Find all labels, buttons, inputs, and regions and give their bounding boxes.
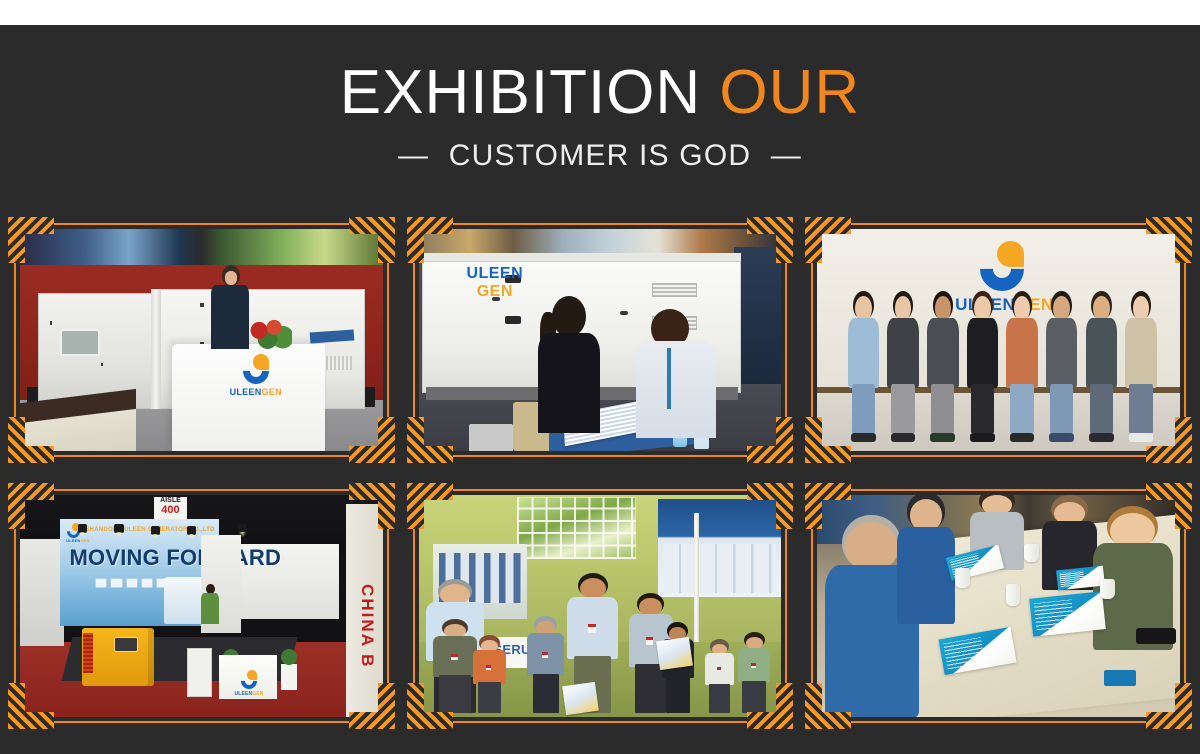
wordmark-gen: GEN: [261, 387, 281, 397]
shoes: [1010, 433, 1035, 442]
legs: [666, 677, 689, 713]
head: [855, 296, 871, 321]
legs: [1050, 384, 1073, 434]
torso: [1086, 318, 1118, 388]
photo-customer-meeting-table[interactable]: [817, 495, 1180, 717]
flower-bouquet: [245, 318, 292, 349]
subtitle-dash-right: —: [761, 139, 812, 173]
legs: [1129, 384, 1152, 434]
gallery-item-5[interactable]: SERUI: [407, 483, 794, 729]
lanyard: [667, 348, 672, 410]
head: [974, 296, 990, 321]
subtitle-dash-left: —: [388, 139, 439, 173]
brand-logo: [110, 578, 122, 588]
wordmark-gen: GEN: [455, 283, 535, 301]
shoes: [1089, 433, 1114, 442]
photo-moving-forward-trade-booth[interactable]: CHINA B AISLE 400 ULEENGEN SHANDONG UL: [20, 495, 383, 717]
leaflet-1: [562, 682, 598, 715]
page-subtitle: — CUSTOMER IS GOD —: [0, 139, 1200, 173]
photo-grid: ULEENGEN: [8, 217, 1192, 729]
subtitle-text: CUSTOMER IS GOD: [449, 139, 751, 172]
group-member: [926, 296, 960, 443]
legs: [439, 675, 470, 712]
coffee-cup-2: [1006, 584, 1021, 606]
generator-seam: [151, 289, 160, 409]
head: [552, 296, 587, 337]
planter-2: [281, 664, 297, 691]
uleen-wordmark-unit: ULEEN GEN: [455, 265, 535, 302]
dark-suit: [538, 333, 600, 433]
uleen-gen-logo: ULEENGEN: [209, 358, 303, 397]
gallery-item-4[interactable]: CHINA B AISLE 400 ULEENGEN SHANDONG UL: [8, 483, 395, 729]
coffee-cup-1: [955, 568, 970, 588]
neighbour-stand-left: [20, 539, 64, 646]
photo-customers-reviewing-documents[interactable]: ULEEN GEN: [419, 229, 782, 451]
brochure-stand: [187, 648, 212, 697]
generator-window: [60, 329, 100, 356]
group-of-visitors: [846, 296, 1158, 443]
torso: [848, 318, 880, 388]
sales-engineer: [538, 296, 600, 434]
visitor-badge: [717, 667, 722, 672]
shoes: [930, 433, 955, 442]
white-shirt: [636, 341, 716, 438]
wordmark-uleen: ULEEN: [230, 387, 262, 397]
gallery-item-6[interactable]: [805, 483, 1192, 729]
title-accent: OUR: [719, 58, 860, 127]
hostess-suit: [211, 285, 249, 349]
torso: [927, 318, 959, 388]
visitor-badge: [588, 624, 596, 633]
legs: [533, 674, 559, 713]
yellow-generator-set: [82, 628, 155, 686]
leaflet-2: [656, 637, 692, 670]
shoes: [1049, 433, 1074, 442]
gallery-item-2[interactable]: ULEEN GEN: [407, 217, 794, 463]
banner-slogan: MOVING FORWARD: [69, 545, 209, 571]
head: [1133, 296, 1149, 321]
group-member: [1005, 296, 1039, 443]
group-member: [965, 296, 999, 443]
uleen-wordmark: ULEENGEN: [209, 387, 303, 397]
shoes: [891, 433, 916, 442]
coffee-cup-4: [1100, 579, 1115, 599]
torso: [967, 318, 999, 388]
legs: [971, 384, 994, 434]
group-member: [1124, 296, 1158, 443]
gallery-item-3[interactable]: ULEENGEN: [805, 217, 1192, 463]
metal-stool: [469, 424, 513, 451]
legs: [1090, 384, 1113, 434]
photo-group-photo-visiting-customers[interactable]: ULEENGEN: [817, 229, 1180, 451]
hall-visitor: [738, 637, 771, 713]
brand-logo: [141, 578, 153, 588]
legs: [891, 384, 914, 434]
wordmark-uleen: ULEEN: [455, 265, 535, 283]
visitor-badge: [646, 637, 653, 645]
brand-logo: [95, 578, 107, 588]
page-title: EXHIBITION OUR: [0, 25, 1200, 125]
coffee-cup-3: [1024, 544, 1039, 562]
group-member: [1045, 296, 1079, 443]
wordmark-uleen: ULEEN: [235, 691, 253, 697]
head: [895, 296, 911, 321]
brochure-2: [1030, 591, 1106, 636]
generator-roof-panel: [422, 253, 741, 262]
tablet-device: [1136, 628, 1176, 644]
head: [1053, 296, 1069, 321]
photo-booth-generators-red-wall[interactable]: ULEENGEN: [20, 229, 383, 451]
partner-brand-logos: [95, 575, 168, 592]
visitor-badge: [751, 663, 756, 668]
hostess-face: [225, 271, 237, 284]
head: [1014, 296, 1030, 321]
uleen-wordmark-counter: ULEENGEN: [230, 691, 268, 697]
shoes: [970, 433, 995, 442]
group-member: [1084, 296, 1118, 443]
group-member: [846, 296, 880, 443]
aisle-number: 400: [154, 505, 187, 516]
aisle-sign: AISLE 400: [154, 497, 187, 519]
torso: [887, 318, 919, 388]
business-card: [1104, 670, 1137, 686]
uleen-gen-logo-on-unit: ULEEN GEN: [455, 265, 535, 302]
hall-visitor: [705, 644, 734, 713]
uleen-logo-mark: [980, 247, 1024, 291]
photo-crowded-exhibition-hall[interactable]: SERUI: [419, 495, 782, 717]
visiting-customer: [636, 309, 716, 438]
section-header: EXHIBITION OUR — CUSTOMER IS GOD —: [0, 25, 1200, 215]
shoes: [851, 433, 876, 442]
gallery-item-1[interactable]: ULEENGEN: [8, 217, 395, 463]
hall-label-china-b: CHINA B: [357, 584, 377, 668]
banner-company-name: SHANDONG ULEEN GENERATOR CO.,LTD: [85, 527, 200, 533]
reception-counter: ULEENGEN: [219, 655, 277, 699]
brand-logo: [126, 578, 138, 588]
counter-uleen-logo: ULEENGEN: [230, 673, 268, 697]
control-window: [114, 637, 139, 652]
hall-visitor: [473, 640, 506, 712]
head: [1093, 296, 1109, 321]
uleen-logo-mark: [243, 358, 269, 384]
overhead-banners: [20, 229, 383, 267]
green-polo: [201, 593, 219, 624]
legs: [1010, 384, 1033, 434]
visitor-badge: [486, 665, 491, 670]
visitor-badge: [542, 652, 548, 658]
radiator-grille: [83, 633, 93, 673]
torso: [1046, 318, 1078, 388]
torso: [1006, 318, 1038, 388]
uleen-logo-mark: [241, 673, 257, 689]
wordmark-gen: GEN: [80, 538, 89, 543]
top-white-strip: [0, 0, 1200, 25]
exhibition-page: EXHIBITION OUR — CUSTOMER IS GOD —: [0, 0, 1200, 754]
torso: [1125, 318, 1157, 388]
legs: [931, 384, 954, 434]
booth-staff: [201, 584, 219, 624]
hall-visitor: [433, 624, 477, 713]
group-member: [886, 296, 920, 443]
wordmark-gen: GEN: [252, 691, 263, 697]
legs: [709, 684, 730, 713]
legs: [852, 384, 875, 434]
visitor-badge: [451, 654, 458, 660]
legs: [742, 681, 765, 713]
legs: [478, 682, 501, 712]
body: [897, 527, 955, 624]
hall-visitor: [527, 621, 563, 713]
shoes: [1129, 433, 1154, 442]
title-main: EXHIBITION: [340, 58, 701, 127]
head: [935, 296, 951, 321]
visitor-crowd: [419, 548, 782, 712]
